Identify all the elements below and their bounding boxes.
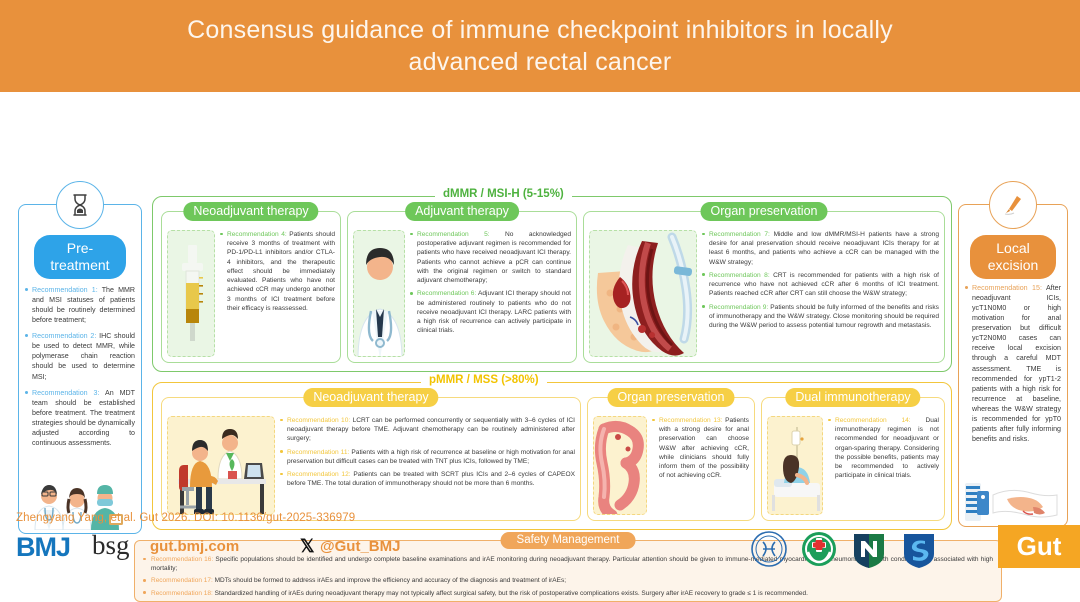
recommendation-text: Patients should receive 3 months of trea… xyxy=(227,231,335,312)
recommendation-item: Recommendation 3: An MDT team should be … xyxy=(25,388,135,448)
citation: Zhengyang Yang, et al. Gut 2026. DOI: 10… xyxy=(16,512,355,524)
recommendation-list: Recommendation 14: Dual immunotherapy re… xyxy=(828,416,939,515)
recommendation-item: Recommendation 14: Dual immunotherapy re… xyxy=(828,416,939,481)
recommendation-label: Recommendation 7: xyxy=(709,231,770,238)
recommendation-item: Recommendation 17: MDTs should be formed… xyxy=(143,576,993,585)
syringe-illustration xyxy=(167,230,215,357)
recommendation-label: Recommendation 12: xyxy=(287,471,351,478)
pmmr-group-label: pMMR / MSS (>80%) xyxy=(421,374,547,386)
panel-title: Organ preservation xyxy=(700,202,827,221)
recommendation-label: Recommendation 15: xyxy=(972,284,1042,292)
consultation-illustration xyxy=(167,416,275,515)
recommendation-item: Recommendation 9: Patients should be ful… xyxy=(702,303,939,331)
page-title: Consensus guidance of immune checkpoint … xyxy=(180,14,900,78)
recommendation-list: Recommendation 13: Patients with a stron… xyxy=(652,416,749,515)
dmmr-group-label: dMMR / MSI-H (5-15%) xyxy=(435,188,572,200)
pmmr-neoadjuvant-panel: Neoadjuvant therapy xyxy=(161,397,581,521)
dmmr-adjuvant-panel: Adjuvant therapy xyxy=(347,211,577,363)
surgery-hands-illustration xyxy=(963,465,1063,523)
recommendation-item: Recommendation 8: CRT is recommended for… xyxy=(702,271,939,299)
dmmr-organ-preservation-panel: Organ preservation xyxy=(583,211,945,363)
recommendation-label: Recommendation 3: xyxy=(32,389,99,397)
recommendation-item: Recommendation 18: Standardized handling… xyxy=(143,589,993,598)
recommendation-text: MDTs should be formed to address irAEs a… xyxy=(215,577,566,584)
bmj-logo: BMJ xyxy=(16,532,70,563)
panel-title: Adjuvant therapy xyxy=(405,202,519,221)
x-handle-link[interactable]: @Gut_BMJ xyxy=(320,538,400,555)
recommendation-text: Standardized handling of irAEs during ne… xyxy=(215,590,808,597)
pre-treatment-recommendations: Recommendation 1: The MMR and MSI status… xyxy=(25,285,135,454)
recommendation-item: Recommendation 4: Patients should receiv… xyxy=(220,230,335,313)
recommendation-list: Recommendation 7: Middle and low dMMR/MS… xyxy=(702,230,939,357)
recommendation-item: Recommendation 12: Patients can be treat… xyxy=(280,470,575,488)
recommendation-item: Recommendation 2: IHC should be used to … xyxy=(25,331,135,381)
gut-journal-badge: Gut xyxy=(998,525,1080,568)
panel-title: Dual immunotherapy xyxy=(785,388,920,407)
recommendation-item: Recommendation 13: Patients with a stron… xyxy=(652,416,749,481)
infographic-canvas: Pre-treatment Recommendation 1: The MMR … xyxy=(0,92,1080,568)
patient-infusion-illustration xyxy=(767,416,823,515)
recommendation-label: Recommendation 5: xyxy=(417,231,490,238)
recommendation-item: Recommendation 10: LCRT can be performed… xyxy=(280,416,575,444)
recommendation-label: Recommendation 18: xyxy=(151,590,213,597)
recommendation-label: Recommendation 17: xyxy=(151,577,213,584)
local-excision-label: Local excision xyxy=(970,235,1056,279)
recommendation-item: Recommendation 6: Adjuvant ICI therapy s… xyxy=(410,289,571,335)
institution-logos xyxy=(750,530,938,568)
recommendation-list: Recommendation 4: Patients should receiv… xyxy=(220,230,335,357)
panel-title: Neoadjuvant therapy xyxy=(303,388,438,407)
recommendation-text: No acknowledged postoperative adjuvant r… xyxy=(417,231,571,284)
dmmr-group: dMMR / MSI-H (5-15%) Neoadjuvant therapy xyxy=(152,196,952,372)
doctor-illustration xyxy=(353,230,405,357)
green-cross-hospital-logo xyxy=(800,530,838,568)
s-shield-logo xyxy=(900,530,938,568)
recommendation-label: Recommendation 10: xyxy=(287,417,350,424)
n-shield-logo xyxy=(850,530,888,568)
recommendation-item: Recommendation 11: Patients with a high … xyxy=(280,448,575,466)
recommendation-text: Patients with a strong desire for anal p… xyxy=(659,417,749,479)
recommendation-list: Recommendation 5: No acknowledged postop… xyxy=(410,230,571,357)
recommendation-label: Recommendation 4: xyxy=(227,231,287,238)
website-link[interactable]: gut.bmj.com xyxy=(150,538,239,555)
recommendation-label: Recommendation 6: xyxy=(417,290,476,297)
recommendation-text: After neoadjuvant ICIs, ycT1N0M0 or high… xyxy=(972,284,1061,443)
bsg-logo: bsg xyxy=(92,530,130,561)
pmmr-organ-preservation-panel: Organ preservation Recommendat xyxy=(587,397,755,521)
colon-illustration xyxy=(593,416,647,515)
recommendation-label: Recommendation 14: xyxy=(835,417,911,424)
x-twitter-icon: 𝕏 xyxy=(300,536,315,557)
recommendation-item: Recommendation 15: After neoadjuvant ICI… xyxy=(965,283,1061,444)
beijing-friendship-hospital-logo xyxy=(750,530,788,568)
footer: BMJ bsg gut.bmj.com 𝕏 @Gut_BMJ xyxy=(0,528,1080,568)
gut-journal-label: Gut xyxy=(1017,531,1062,562)
page-header: Consensus guidance of immune checkpoint … xyxy=(0,0,1080,92)
recommendation-label: Recommendation 9: xyxy=(709,304,768,311)
recommendation-label: Recommendation 8: xyxy=(709,272,770,279)
recommendation-text: An MDT team should be established before… xyxy=(32,389,135,447)
panel-title: Neoadjuvant therapy xyxy=(183,202,318,221)
pre-treatment-label: Pre-treatment xyxy=(34,235,126,279)
hourglass-icon xyxy=(56,181,104,229)
recommendation-text: Dual immunotherapy regimen is not recomm… xyxy=(835,417,939,479)
recommendation-label: Recommendation 2: xyxy=(32,332,96,340)
pmmr-dual-immunotherapy-panel: Dual immunotherapy xyxy=(761,397,945,521)
scalpel-icon xyxy=(989,181,1037,229)
recommendation-item: Recommendation 5: No acknowledged postop… xyxy=(410,230,571,285)
pre-treatment-panel: Pre-treatment Recommendation 1: The MMR … xyxy=(18,204,142,534)
rectum-anatomy-illustration xyxy=(589,230,697,357)
recommendation-item: Recommendation 1: The MMR and MSI status… xyxy=(25,285,135,325)
local-excision-panel: Local excision Recommendation 15: After … xyxy=(958,204,1068,527)
pmmr-group: pMMR / MSS (>80%) Neoadjuvant therapy xyxy=(152,382,952,530)
recommendation-item: Recommendation 7: Middle and low dMMR/MS… xyxy=(702,230,939,267)
recommendation-label: Recommendation 13: xyxy=(659,417,723,424)
local-excision-recommendations: Recommendation 15: After neoadjuvant ICI… xyxy=(965,283,1061,450)
dmmr-neoadjuvant-panel: Neoadjuvant therapy xyxy=(161,211,341,363)
panel-title: Organ preservation xyxy=(607,388,734,407)
recommendation-label: Recommendation 11: xyxy=(287,449,349,456)
recommendation-label: Recommendation 1: xyxy=(32,286,98,294)
recommendation-list: Recommendation 10: LCRT can be performed… xyxy=(280,416,575,515)
